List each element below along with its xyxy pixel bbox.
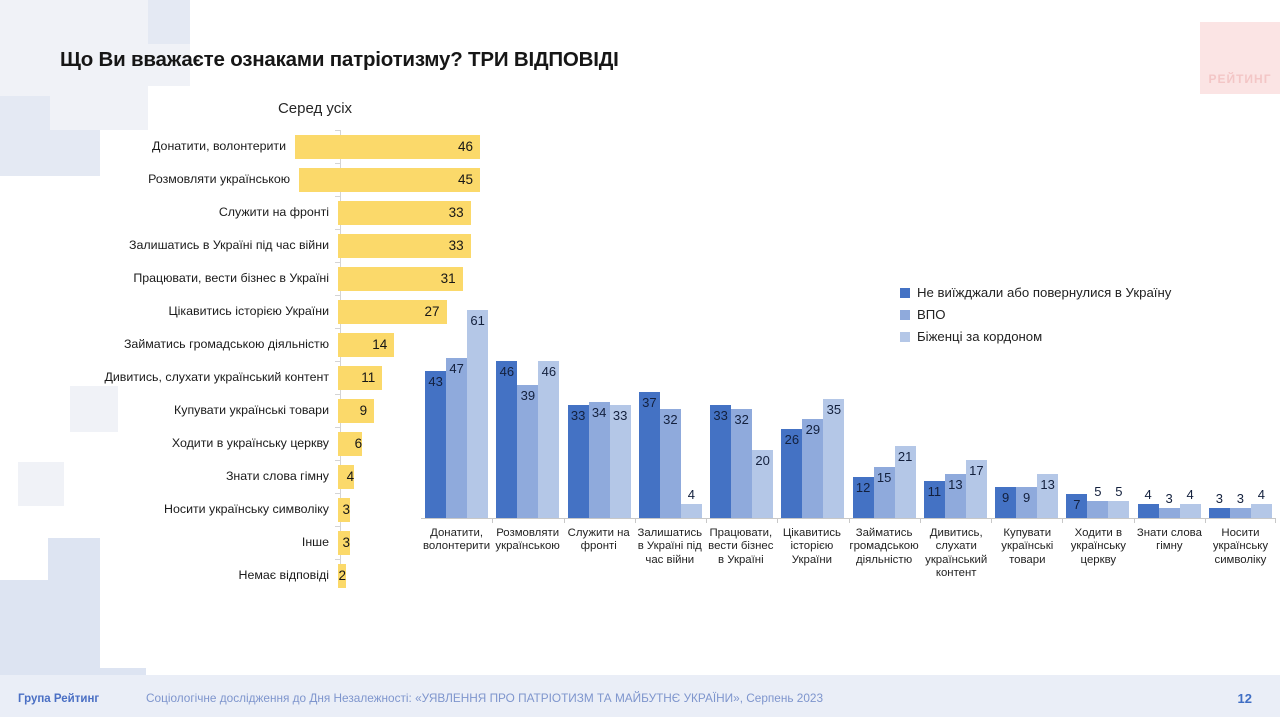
- vertical-bar: 4: [1138, 504, 1159, 518]
- bar-group: 262935: [777, 275, 848, 518]
- rating-logo: РЕЙТИНГ: [1200, 22, 1280, 94]
- left-bar-wrap: 3: [338, 498, 350, 522]
- axis-tick: [335, 130, 340, 131]
- page-title: Що Ви вважаєте ознаками патріотизму? ТРИ…: [60, 48, 619, 72]
- slide-root: Що Ви вважаєте ознаками патріотизму? ТРИ…: [0, 0, 1280, 717]
- left-bar-wrap: 4: [338, 465, 354, 489]
- footer-caption: Соціологічне дослідження до Дня Незалежн…: [146, 691, 823, 705]
- bar-fill: [517, 385, 538, 518]
- bar-value-label: 3: [1166, 492, 1173, 505]
- left-bar: 6: [338, 432, 362, 456]
- bar-group: 434761: [421, 275, 492, 518]
- left-bar-label: Немає відповіді: [60, 569, 338, 581]
- left-bar-value: 9: [360, 404, 375, 418]
- bar-value-label: 7: [1073, 498, 1080, 511]
- axis-tick: [335, 196, 340, 197]
- bar-value-label: 9: [1023, 491, 1030, 504]
- bar-value-label: 4: [1145, 488, 1152, 501]
- bar-value-label: 34: [592, 406, 606, 419]
- left-bar: 33: [338, 201, 471, 225]
- bar-fill: [1138, 504, 1159, 518]
- left-bar: 2: [338, 564, 346, 588]
- vertical-bar: 9: [1016, 487, 1037, 518]
- left-bar-value: 6: [351, 437, 363, 451]
- left-bar: 3: [338, 531, 350, 555]
- bar-value-label: 37: [642, 396, 656, 409]
- vertical-bar: 5: [1087, 501, 1108, 518]
- bar-group: 463946: [492, 275, 563, 518]
- bar-value-label: 47: [449, 362, 463, 375]
- category-label: Служити на фронті: [563, 527, 634, 581]
- vertical-bar: 46: [496, 361, 517, 518]
- bar-value-label: 26: [785, 433, 799, 446]
- left-bar-label: Донатити, волонтерити: [60, 140, 295, 152]
- footer-brand: Група Рейтинг: [18, 693, 99, 705]
- bar-value-label: 3: [1216, 492, 1223, 505]
- left-bar-wrap: 2: [338, 564, 346, 588]
- category-label: Займатись громадською діяльністю: [847, 527, 920, 581]
- left-bar-row: Розмовляти українською45: [60, 163, 480, 196]
- bar-value-label: 17: [969, 464, 983, 477]
- bar-value-label: 61: [470, 314, 484, 327]
- bar-value-label: 46: [500, 365, 514, 378]
- bar-value-label: 32: [663, 413, 677, 426]
- left-bar: 4: [338, 465, 354, 489]
- decor-block: [148, 0, 190, 44]
- left-bar-label: Залишатись в Україні під час війни: [60, 239, 338, 251]
- left-bar-value: 4: [343, 470, 355, 484]
- vertical-bar: 32: [731, 409, 752, 518]
- decor-block: [0, 96, 50, 176]
- left-bar-label: Знати слова гімну: [60, 470, 338, 482]
- left-bar-wrap: 33: [338, 234, 471, 258]
- decor-block: [18, 462, 64, 506]
- vertical-bar: 26: [781, 429, 802, 518]
- vertical-bar: 61: [467, 310, 488, 518]
- decor-block: [48, 624, 94, 678]
- axis-tick: [335, 229, 340, 230]
- vertical-bar: 13: [1037, 474, 1058, 518]
- category-label: Залишатись в Україні під час війни: [634, 527, 705, 581]
- left-bar: 3: [338, 498, 350, 522]
- vertical-bar: 32: [660, 409, 681, 518]
- left-bar-value: 3: [339, 536, 351, 550]
- bar-fill: [538, 361, 559, 518]
- left-bar-row: Залишатись в Україні під час війни33: [60, 229, 480, 262]
- vertical-bar: 34: [589, 402, 610, 518]
- bar-value-label: 4: [688, 488, 695, 501]
- right-chart-groups: 4347614639463334333732433322026293512152…: [421, 275, 1276, 518]
- bar-fill: [425, 371, 446, 518]
- left-bar-value: 33: [449, 239, 471, 253]
- bar-group: 333220: [706, 275, 777, 518]
- decor-block: [0, 580, 52, 678]
- axis-tick: [335, 328, 340, 329]
- vertical-bar: 33: [568, 405, 589, 518]
- bar-value-label: 13: [948, 478, 962, 491]
- category-label: Ходити в українську церкву: [1063, 527, 1134, 581]
- left-bar-label: Дивитись, слухати український контент: [60, 371, 338, 383]
- left-bar-value: 2: [335, 569, 347, 583]
- vertical-bar: 3: [1230, 508, 1251, 518]
- vertical-bar: 5: [1108, 501, 1129, 518]
- left-bar: 11: [338, 366, 382, 390]
- left-bar-wrap: 11: [338, 366, 382, 390]
- bar-value-label: 46: [542, 365, 556, 378]
- bar-fill: [467, 310, 488, 518]
- bar-group: 121521: [849, 275, 920, 518]
- left-bar: 45: [299, 168, 480, 192]
- category-label: Дивитись, слухати український контент: [921, 527, 992, 581]
- vertical-bar: 43: [425, 371, 446, 518]
- vertical-bar: 33: [710, 405, 731, 518]
- left-bar: 46: [295, 135, 480, 159]
- right-chart-plot: 4347614639463334333732433322026293512152…: [415, 275, 1280, 518]
- left-bar-wrap: 6: [338, 432, 362, 456]
- left-bar-wrap: 33: [338, 201, 471, 225]
- left-bar: 9: [338, 399, 374, 423]
- left-bar-label: Служити на фронті: [60, 206, 338, 218]
- bar-value-label: 4: [1187, 488, 1194, 501]
- bar-value-label: 5: [1094, 485, 1101, 498]
- vertical-bar: 3: [1209, 508, 1230, 518]
- axis-tick: [335, 295, 340, 296]
- axis-tick: [335, 394, 340, 395]
- bar-value-label: 20: [755, 454, 769, 467]
- left-bar-wrap: 9: [338, 399, 374, 423]
- vertical-bar: 11: [924, 481, 945, 519]
- left-bar-row: Служити на фронті33: [60, 196, 480, 229]
- logo-label: РЕЙТИНГ: [1208, 72, 1271, 86]
- vertical-bar: 20: [752, 450, 773, 518]
- left-bar-label: Ходити в українську церкву: [60, 437, 338, 449]
- left-bar-label: Розмовляти українською: [60, 173, 299, 185]
- left-bar-label: Займатись громадською діяльністю: [60, 338, 338, 350]
- bar-fill: [1251, 504, 1272, 518]
- left-bar-label: Інше: [60, 536, 338, 548]
- category-label: Носити українську символіку: [1205, 527, 1276, 581]
- bar-value-label: 35: [827, 403, 841, 416]
- vertical-bar: 37: [639, 392, 660, 518]
- right-chart-category-labels: Донатити, волонтеритиРозмовляти українсь…: [421, 527, 1276, 581]
- left-bar-value: 46: [458, 140, 480, 154]
- left-bar-value: 14: [372, 338, 394, 352]
- vertical-bar: 39: [517, 385, 538, 518]
- bar-fill: [681, 504, 702, 518]
- category-label: Купувати українські товари: [992, 527, 1063, 581]
- bar-fill: [1159, 508, 1180, 518]
- left-bar-value: 45: [458, 173, 480, 187]
- segmented-bar-chart: Не виїжджали або повернулися в УкраїнуВП…: [415, 275, 1280, 595]
- bar-fill: [1209, 508, 1230, 518]
- axis-tick: [335, 559, 340, 560]
- left-bar-wrap: 14: [338, 333, 394, 357]
- left-bar-wrap: 45: [299, 168, 480, 192]
- bar-value-label: 21: [898, 450, 912, 463]
- left-bar-value: 33: [449, 206, 471, 220]
- left-bar-wrap: 3: [338, 531, 350, 555]
- category-label: Донатити, волонтерити: [421, 527, 492, 581]
- left-bar-value: 3: [339, 503, 351, 517]
- bar-group: 111317: [920, 275, 991, 518]
- bar-group: 755: [1062, 275, 1133, 518]
- right-chart-baseline: [421, 518, 1276, 519]
- vertical-bar: 13: [945, 474, 966, 518]
- axis-tick: [335, 460, 340, 461]
- axis-tick: [335, 262, 340, 263]
- bar-value-label: 5: [1115, 485, 1122, 498]
- vertical-bar: 4: [1251, 504, 1272, 518]
- vertical-bar: 29: [802, 419, 823, 518]
- category-label: Цікавитись історією України: [776, 527, 847, 581]
- vertical-bar: 7: [1066, 494, 1087, 518]
- vertical-bar: 35: [823, 399, 844, 518]
- bar-value-label: 12: [856, 481, 870, 494]
- vertical-bar: 15: [874, 467, 895, 518]
- bar-fill: [639, 392, 660, 518]
- footer: Група Рейтинг Соціологічне дослідження д…: [0, 675, 1280, 717]
- bar-value-label: 39: [521, 389, 535, 402]
- bar-value-label: 11: [928, 485, 942, 498]
- vertical-bar: 12: [853, 477, 874, 518]
- bar-group: 37324: [635, 275, 706, 518]
- vertical-bar: 4: [1180, 504, 1201, 518]
- bar-value-label: 13: [1040, 478, 1054, 491]
- vertical-bar: 46: [538, 361, 559, 518]
- bar-group: 333433: [564, 275, 635, 518]
- bar-value-label: 33: [571, 409, 585, 422]
- bar-group: 434: [1134, 275, 1205, 518]
- left-chart-title: Серед усіх: [235, 100, 395, 117]
- vertical-bar: 9: [995, 487, 1016, 518]
- vertical-bar: 3: [1159, 508, 1180, 518]
- bar-value-label: 15: [877, 471, 891, 484]
- category-label: Знати слова гімну: [1134, 527, 1205, 581]
- left-bar-value: 11: [361, 371, 382, 385]
- bar-value-label: 43: [428, 375, 442, 388]
- axis-tick: [335, 361, 340, 362]
- bar-value-label: 33: [713, 409, 727, 422]
- bar-fill: [1230, 508, 1251, 518]
- bar-group: 9913: [991, 275, 1062, 518]
- category-label: Працювати, вести бізнес в Україні: [705, 527, 776, 581]
- left-bar-label: Цікавитись історією України: [60, 305, 338, 317]
- category-label: Розмовляти українською: [492, 527, 563, 581]
- bar-fill: [1087, 501, 1108, 518]
- vertical-bar: 4: [681, 504, 702, 518]
- bar-value-label: 4: [1258, 488, 1265, 501]
- axis-tick: [335, 526, 340, 527]
- bar-group: 334: [1205, 275, 1276, 518]
- bar-fill: [1108, 501, 1129, 518]
- vertical-bar: 17: [966, 460, 987, 518]
- axis-tick: [335, 493, 340, 494]
- left-bar-row: Донатити, волонтерити46: [60, 130, 480, 163]
- page-number: 12: [1238, 691, 1252, 706]
- bar-fill: [1180, 504, 1201, 518]
- bar-value-label: 3: [1237, 492, 1244, 505]
- bar-fill: [496, 361, 517, 518]
- vertical-bar: 21: [895, 446, 916, 518]
- left-bar-wrap: 46: [295, 135, 480, 159]
- left-bar: 14: [338, 333, 394, 357]
- vertical-bar: 47: [446, 358, 467, 518]
- left-bar-label: Працювати, вести бізнес в Україні: [60, 272, 338, 284]
- bar-value-label: 9: [1002, 491, 1009, 504]
- bar-fill: [446, 358, 467, 518]
- bar-value-label: 32: [734, 413, 748, 426]
- bar-value-label: 33: [613, 409, 627, 422]
- left-bar-label: Носити українську символіку: [60, 503, 338, 515]
- axis-tick: [335, 163, 340, 164]
- left-bar-label: Купувати українські товари: [60, 404, 338, 416]
- bar-value-label: 29: [806, 423, 820, 436]
- vertical-bar: 33: [610, 405, 631, 518]
- axis-tick: [335, 427, 340, 428]
- left-bar: 33: [338, 234, 471, 258]
